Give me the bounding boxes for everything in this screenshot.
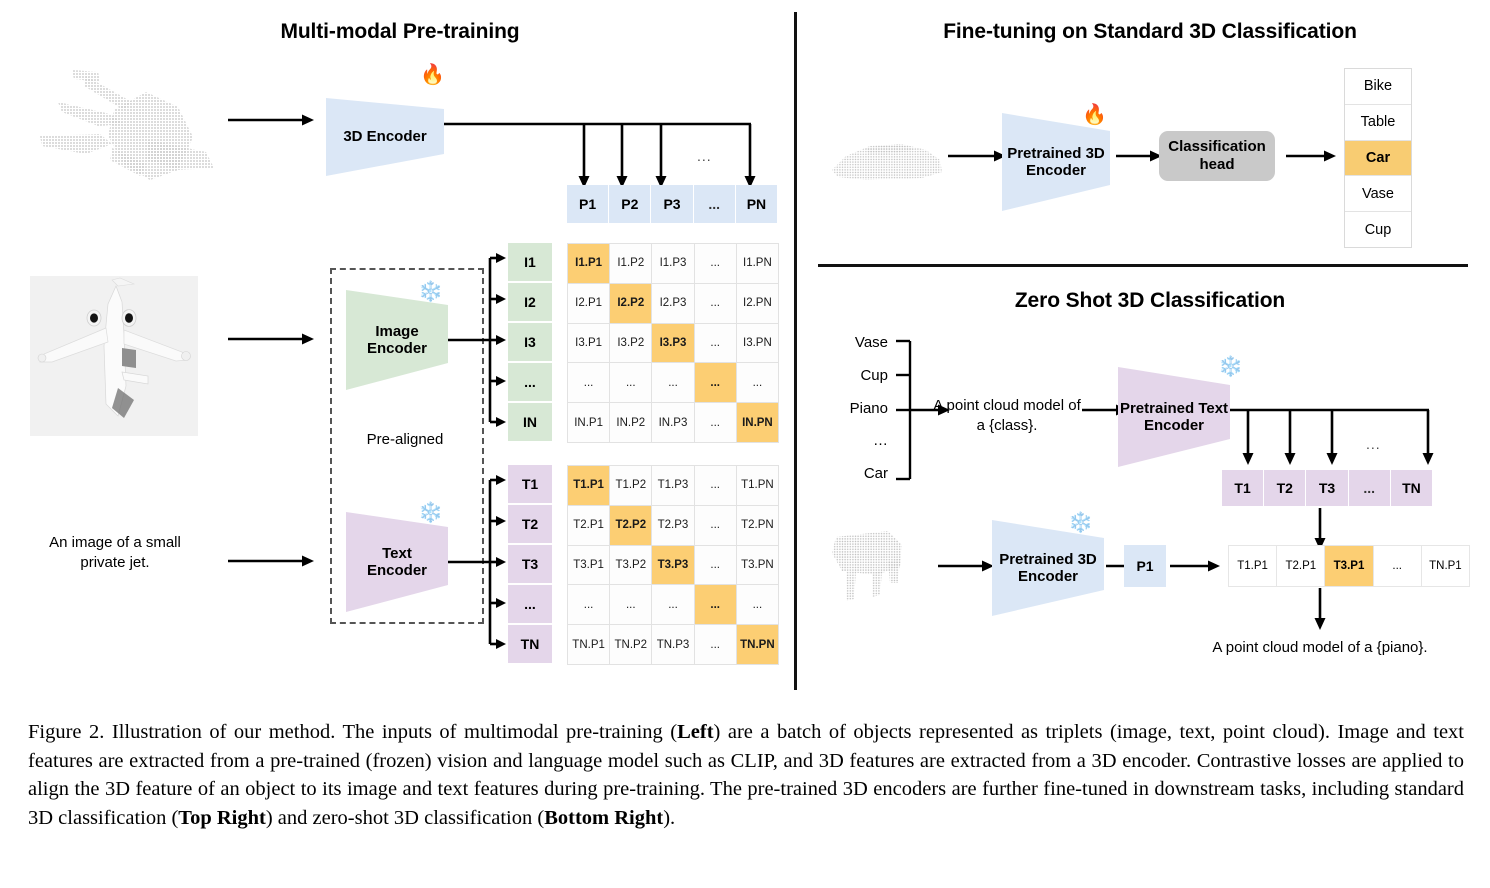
image-matrix-cell: I2.PN bbox=[737, 284, 778, 323]
image-matrix-cell: I1.P3 bbox=[652, 244, 693, 283]
text-matrix-cell: T2.P2 bbox=[610, 506, 651, 545]
text-token-cell: TN bbox=[508, 625, 552, 663]
image-matrix-cell: ... bbox=[695, 363, 736, 402]
text-token-column: T1T2T3...TN bbox=[508, 465, 552, 663]
text-matrix-cell: ... bbox=[695, 625, 736, 664]
text-matrix-cell: ... bbox=[568, 585, 609, 624]
image-matrix-cell: IN.P2 bbox=[610, 403, 651, 442]
image-matrix-cell: I1.P1 bbox=[568, 244, 609, 283]
encoder-ft-label-line2: Encoder bbox=[1007, 162, 1105, 179]
zeroshot-class-label: Piano bbox=[824, 400, 892, 417]
text-matrix-cell: ... bbox=[737, 585, 778, 624]
snowflake-icon-3d-encoder-zs: ❄️ bbox=[1068, 513, 1093, 533]
encoder-3d-zs-label-line2: Encoder bbox=[999, 568, 1097, 585]
left-panel-title: Multi-modal Pre-training bbox=[240, 20, 560, 44]
zeroshot-prompt-template: A point cloud model of a {class}. bbox=[912, 396, 1102, 435]
encoder-pretrained-text-label: Pretrained Text Encoder bbox=[1120, 400, 1228, 435]
text-token-cell: T2 bbox=[508, 505, 552, 545]
zeroshot-score-cell: T1.P1 bbox=[1229, 546, 1276, 586]
image-matrix-cell: I2.P1 bbox=[568, 284, 609, 323]
image-matrix-cell: IN.P3 bbox=[652, 403, 693, 442]
image-token-cell: I2 bbox=[508, 283, 552, 323]
input-text-line2: private jet. bbox=[20, 553, 210, 573]
image-token-cell: I1 bbox=[508, 243, 552, 283]
text-matrix-cell: ... bbox=[695, 506, 736, 545]
zeroshot-class-label: Vase bbox=[824, 334, 892, 351]
point-token-cell: P3 bbox=[651, 185, 693, 223]
image-fanout-arrows bbox=[448, 252, 506, 432]
image-matrix-cell: ... bbox=[568, 363, 609, 402]
image-matrix-cell: ... bbox=[695, 284, 736, 323]
text-matrix-cell: TN.P3 bbox=[652, 625, 693, 664]
zeroshot-class-list: VaseCupPiano…Car bbox=[824, 334, 892, 482]
horizontal-divider bbox=[818, 264, 1468, 267]
classification-head-label-line1: Classification bbox=[1168, 138, 1266, 156]
arrow-p1-to-scores bbox=[1170, 558, 1222, 574]
image-matrix-cell: ... bbox=[610, 363, 651, 402]
image-matrix-cell: I1.P2 bbox=[610, 244, 651, 283]
zeroshot-text-token-cell: T3 bbox=[1306, 470, 1348, 506]
arrow-car-to-encoder bbox=[948, 148, 1008, 164]
zeroshot-point-token: P1 bbox=[1124, 545, 1166, 587]
pre-aligned-label: Pre-aligned bbox=[330, 430, 480, 450]
encoder-text-label: Text Encoder bbox=[367, 545, 427, 580]
input-rendered-image-airplane bbox=[30, 276, 198, 436]
text-matrix-cell: T3.PN bbox=[737, 546, 778, 585]
image-matrix-cell: I2.P3 bbox=[652, 284, 693, 323]
image-matrix-cell: ... bbox=[695, 324, 736, 363]
text-matrix-cell: T1.PN bbox=[737, 466, 778, 505]
encoder-pretrained-text[interactable]: Pretrained Text Encoder bbox=[1118, 367, 1230, 467]
encoder-text-label-line2: Encoder bbox=[367, 562, 427, 579]
image-matrix-cell: I3.PN bbox=[737, 324, 778, 363]
arrow-pointcloud-to-encoder bbox=[228, 112, 318, 128]
text-matrix-cell: ... bbox=[610, 585, 651, 624]
encoder-image-label-line1: Image bbox=[367, 323, 427, 340]
classification-head-label-line2: head bbox=[1168, 156, 1266, 174]
input-point-cloud-airplane bbox=[28, 52, 223, 197]
class-list-item[interactable]: Car bbox=[1345, 141, 1411, 177]
encoder-text-zs-label-line1: Pretrained Text bbox=[1120, 400, 1228, 417]
snowflake-icon-image-encoder: ❄️ bbox=[418, 282, 443, 302]
text-matrix-cell: T3.P2 bbox=[610, 546, 651, 585]
input-point-cloud-car bbox=[826, 130, 946, 192]
zeroshot-text-token-cell: ... bbox=[1349, 470, 1391, 506]
caption-text: ) and zero-shot 3D classification ( bbox=[266, 807, 544, 829]
encoder-ft-label-line1: Pretrained 3D bbox=[1007, 145, 1105, 162]
prompt-line2: a {class}. bbox=[912, 416, 1102, 436]
zeroshot-class-label: Car bbox=[824, 465, 892, 482]
zeroshot-text-token-cell: TN bbox=[1391, 470, 1432, 506]
image-matrix-cell: I3.P1 bbox=[568, 324, 609, 363]
fire-icon: 🔥 bbox=[420, 65, 445, 85]
image-matrix-cell: I3.P3 bbox=[652, 324, 693, 363]
input-text-line1: An image of a small bbox=[20, 533, 210, 553]
text-matrix-cell: TN.P1 bbox=[568, 625, 609, 664]
text-matrix-cell: T2.PN bbox=[737, 506, 778, 545]
caption-text: Figure 2. Illustration of our method. Th… bbox=[28, 721, 677, 743]
prompt-line1: A point cloud model of bbox=[912, 396, 1102, 416]
caption-emphasis: Left bbox=[677, 721, 713, 743]
zeroshot-text-output-bus bbox=[1230, 405, 1432, 477]
arrow-text-to-encoder bbox=[228, 553, 318, 569]
encoder-text-zs-label-line2: Encoder bbox=[1120, 417, 1228, 434]
classification-head[interactable]: Classification head bbox=[1159, 131, 1275, 181]
arrow-encoder-to-head bbox=[1116, 148, 1164, 164]
text-matrix-cell: ... bbox=[695, 466, 736, 505]
image-matrix-cell: IN.PN bbox=[737, 403, 778, 442]
input-text-caption: An image of a small private jet. bbox=[20, 533, 210, 572]
arrow-piano-to-encoder bbox=[938, 558, 996, 574]
caption-emphasis: Top Right bbox=[178, 807, 266, 829]
zeroshot-text-token-strip: T1T2T3...TN bbox=[1222, 470, 1432, 506]
encoder-image-label-line2: Encoder bbox=[367, 340, 427, 357]
zeroshot-score-cell: T2.P1 bbox=[1277, 546, 1324, 586]
point-token-cell: P1 bbox=[567, 185, 609, 223]
text-token-cell: ... bbox=[508, 585, 552, 625]
text-matrix-cell: ... bbox=[695, 585, 736, 624]
encoder-image[interactable]: Image Encoder bbox=[346, 290, 448, 390]
class-list-item[interactable]: Vase bbox=[1345, 176, 1411, 212]
classification-class-list[interactable]: BikeTableCarVaseCup bbox=[1344, 68, 1412, 248]
image-matrix-cell: I2.P2 bbox=[610, 284, 651, 323]
encoder-3d-label: 3D Encoder bbox=[343, 128, 426, 145]
text-matrix-cell: TN.PN bbox=[737, 625, 778, 664]
encoder-pretrained-3d-zeroshot[interactable]: Pretrained 3D Encoder bbox=[992, 520, 1104, 616]
text-matrix-cell: ... bbox=[695, 546, 736, 585]
image-matrix-cell: ... bbox=[652, 363, 693, 402]
image-matrix-cell: I3.P2 bbox=[610, 324, 651, 363]
figure-canvas: Multi-modal Pre-training bbox=[0, 0, 1490, 888]
vertical-divider bbox=[794, 12, 797, 690]
encoder-pretrained-3d-zeroshot-label: Pretrained 3D Encoder bbox=[999, 551, 1097, 586]
text-matrix-cell: T1.P2 bbox=[610, 466, 651, 505]
text-matrix-cell: T1.P1 bbox=[568, 466, 609, 505]
top-right-panel-title: Fine-tuning on Standard 3D Classificatio… bbox=[870, 20, 1430, 44]
zeroshot-text-token-cell: T2 bbox=[1264, 470, 1306, 506]
text-matrix-cell: T1.P3 bbox=[652, 466, 693, 505]
caption-text: ). bbox=[663, 807, 675, 829]
zeroshot-result-text: A point cloud model of a {piano}. bbox=[1150, 638, 1490, 658]
text-token-cell: T1 bbox=[508, 465, 552, 505]
encoder-pretrained-3d-finetune-label: Pretrained 3D Encoder bbox=[1007, 145, 1105, 180]
text-matrix-cell: T2.P1 bbox=[568, 506, 609, 545]
image-point-similarity-matrix: I1.P1I1.P2I1.P3...I1.PNI2.P1I2.P2I2.P3..… bbox=[567, 243, 779, 443]
zeroshot-score-strip: T1.P1T2.P1T3.P1...TN.P1 bbox=[1228, 545, 1470, 587]
encoder-3d-zs-label-line1: Pretrained 3D bbox=[999, 551, 1097, 568]
arrow-scores-to-result bbox=[1312, 588, 1328, 630]
image-token-cell: IN bbox=[508, 403, 552, 441]
image-matrix-cell: ... bbox=[737, 363, 778, 402]
image-matrix-cell: ... bbox=[695, 403, 736, 442]
pointcloud-bus-ellipsis: ... bbox=[697, 148, 712, 164]
text-matrix-cell: T3.P3 bbox=[652, 546, 693, 585]
encoder-pretrained-3d-finetune[interactable]: Pretrained 3D Encoder bbox=[1002, 113, 1110, 211]
text-matrix-cell: T2.P3 bbox=[652, 506, 693, 545]
encoder-3d[interactable]: 3D Encoder bbox=[326, 98, 444, 176]
zeroshot-score-cell: ... bbox=[1374, 546, 1421, 586]
arrow-head-to-classlist bbox=[1286, 148, 1338, 164]
encoder-image-label: Image Encoder bbox=[367, 323, 427, 358]
encoder-text[interactable]: Text Encoder bbox=[346, 512, 448, 612]
zeroshot-text-token-cell: T1 bbox=[1222, 470, 1264, 506]
point-token-strip: P1P2P3...PN bbox=[567, 185, 777, 223]
image-matrix-cell: ... bbox=[695, 244, 736, 283]
text-token-cell: T3 bbox=[508, 545, 552, 585]
snowflake-icon-text-encoder-zs: ❄️ bbox=[1218, 357, 1243, 377]
zeroshot-bus-ellipsis: ... bbox=[1366, 436, 1381, 452]
point-token-cell: ... bbox=[694, 185, 736, 223]
zeroshot-class-label: Cup bbox=[824, 367, 892, 384]
encoder-text-label-line1: Text bbox=[367, 545, 427, 562]
image-token-cell: I3 bbox=[508, 323, 552, 363]
point-token-cell: P2 bbox=[609, 185, 651, 223]
input-point-cloud-piano bbox=[826, 525, 936, 607]
point-token-cell: PN bbox=[736, 185, 777, 223]
class-list-item[interactable]: Bike bbox=[1345, 69, 1411, 105]
text-matrix-cell: ... bbox=[652, 585, 693, 624]
image-token-cell: ... bbox=[508, 363, 552, 403]
fire-icon-finetune: 🔥 bbox=[1082, 105, 1107, 125]
zeroshot-score-cell: TN.P1 bbox=[1422, 546, 1469, 586]
class-list-item[interactable]: Cup bbox=[1345, 212, 1411, 247]
image-matrix-cell: IN.P1 bbox=[568, 403, 609, 442]
arrow-tokens-to-scores bbox=[1312, 508, 1328, 550]
text-matrix-cell: TN.P2 bbox=[610, 625, 651, 664]
text-fanout-arrows bbox=[448, 474, 506, 654]
text-point-similarity-matrix: T1.P1T1.P2T1.P3...T1.PNT2.P1T2.P2T2.P3..… bbox=[567, 465, 779, 665]
image-token-column: I1I2I3...IN bbox=[508, 243, 552, 441]
class-list-item[interactable]: Table bbox=[1345, 105, 1411, 141]
snowflake-icon-text-encoder: ❄️ bbox=[418, 503, 443, 523]
bottom-right-panel-title: Zero Shot 3D Classification bbox=[960, 289, 1340, 313]
zeroshot-score-cell: T3.P1 bbox=[1325, 546, 1372, 586]
image-matrix-cell: I1.PN bbox=[737, 244, 778, 283]
arrow-image-to-encoder bbox=[228, 331, 318, 347]
zeroshot-class-label: … bbox=[824, 432, 892, 449]
figure-caption: Figure 2. Illustration of our method. Th… bbox=[28, 718, 1464, 833]
text-matrix-cell: T3.P1 bbox=[568, 546, 609, 585]
caption-emphasis: Bottom Right bbox=[544, 807, 663, 829]
